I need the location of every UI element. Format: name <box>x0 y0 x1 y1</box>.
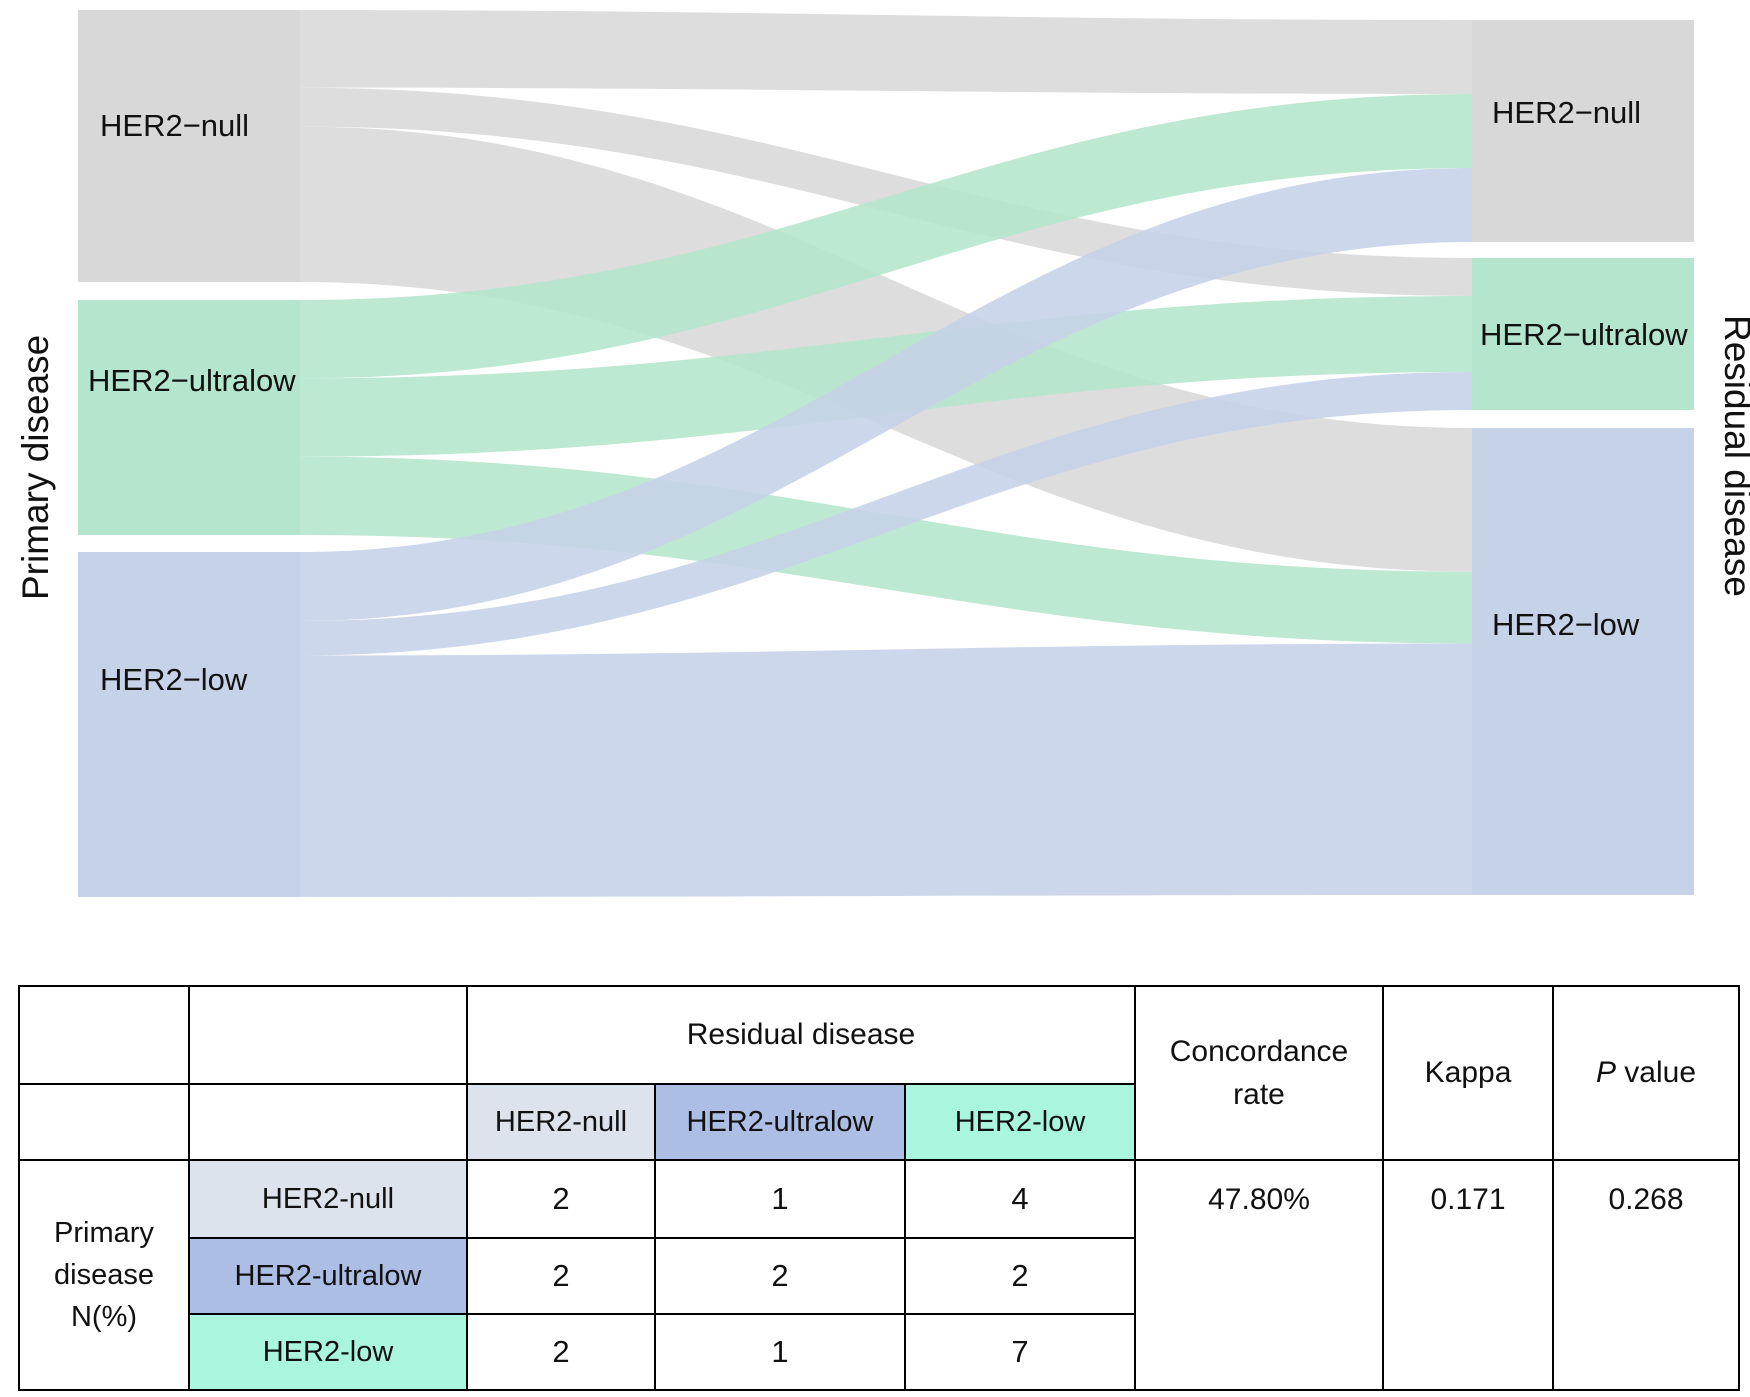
source-node-her2-null[interactable] <box>78 10 300 282</box>
cell-ultralow-ultralow: 2 <box>655 1238 905 1314</box>
header-p-italic: P <box>1596 1056 1616 1089</box>
header-kappa: Kappa <box>1383 986 1553 1160</box>
header-residual-disease: Residual disease <box>467 986 1135 1084</box>
source-node-her2-null-label: HER2−null <box>100 108 249 143</box>
header-concordance-line2: rate <box>1233 1078 1285 1111</box>
cell-low-null: 2 <box>467 1314 655 1390</box>
target-node-her2-low[interactable] <box>1472 428 1694 895</box>
row-header-her2-null: HER2-null <box>189 1160 467 1238</box>
sankey-source-nodes: HER2−null HER2−ultralow HER2−low <box>78 10 300 897</box>
blank-cell-d <box>189 1084 467 1160</box>
value-p: 0.268 <box>1553 1160 1739 1390</box>
source-node-her2-ultralow[interactable] <box>78 300 300 535</box>
sankey-svg: Primary disease Residual disease HER2−nu… <box>0 0 1750 930</box>
concordance-table: Residual disease Concordance rate Kappa … <box>18 985 1740 1391</box>
blank-cell-c <box>19 1084 189 1160</box>
value-kappa: 0.171 <box>1383 1160 1553 1390</box>
sankey-target-nodes: HER2−null HER2−ultralow HER2−low <box>1472 20 1694 895</box>
cell-ultralow-low: 2 <box>905 1238 1135 1314</box>
target-node-her2-null-label: HER2−null <box>1492 95 1641 130</box>
row-group-line2: disease <box>54 1259 154 1291</box>
header-concordance-line1: Concordance <box>1170 1035 1348 1068</box>
target-node-her2-ultralow-label: HER2−ultralow <box>1480 317 1688 352</box>
target-node-her2-low-label: HER2−low <box>1492 607 1640 642</box>
row-group-line3: N(%) <box>71 1301 137 1333</box>
cell-low-low: 7 <box>905 1314 1135 1390</box>
summary-table-area: Residual disease Concordance rate Kappa … <box>0 985 1750 1397</box>
cell-null-ultralow: 1 <box>655 1160 905 1238</box>
col-header-her2-null: HER2-null <box>467 1084 655 1160</box>
table-row: Primary disease N(%) HER2-null 2 1 4 47.… <box>19 1160 1739 1238</box>
sankey-link-low-to-low[interactable] <box>300 644 1472 897</box>
table-header-row-1: Residual disease Concordance rate Kappa … <box>19 986 1739 1084</box>
sankey-links <box>300 10 1472 897</box>
row-header-her2-low: HER2-low <box>189 1314 467 1390</box>
source-node-her2-low-label: HER2−low <box>100 662 248 697</box>
col-header-her2-low: HER2-low <box>905 1084 1135 1160</box>
blank-cell-a <box>19 986 189 1084</box>
source-node-her2-low[interactable] <box>78 552 300 897</box>
right-axis-label: Residual disease <box>1717 315 1750 597</box>
header-concordance-rate: Concordance rate <box>1135 986 1383 1160</box>
left-axis-label: Primary disease <box>15 335 56 600</box>
source-node-her2-ultralow-label: HER2−ultralow <box>88 363 296 398</box>
cell-null-low: 4 <box>905 1160 1135 1238</box>
col-header-her2-ultralow: HER2-ultralow <box>655 1084 905 1160</box>
header-p-value: P value <box>1553 986 1739 1160</box>
cell-ultralow-null: 2 <box>467 1238 655 1314</box>
blank-cell-b <box>189 986 467 1084</box>
sankey-link-null-to-null[interactable] <box>300 10 1472 94</box>
row-group-line1: Primary <box>54 1217 154 1249</box>
figure-root: Primary disease Residual disease HER2−nu… <box>0 0 1750 1397</box>
header-p-rest: value <box>1616 1056 1696 1089</box>
target-node-her2-null[interactable] <box>1472 20 1694 242</box>
row-group-label-primary-disease: Primary disease N(%) <box>19 1160 189 1390</box>
cell-low-ultralow: 1 <box>655 1314 905 1390</box>
value-concordance-rate: 47.80% <box>1135 1160 1383 1390</box>
cell-null-null: 2 <box>467 1160 655 1238</box>
sankey-diagram: Primary disease Residual disease HER2−nu… <box>0 0 1750 930</box>
row-header-her2-ultralow: HER2-ultralow <box>189 1238 467 1314</box>
